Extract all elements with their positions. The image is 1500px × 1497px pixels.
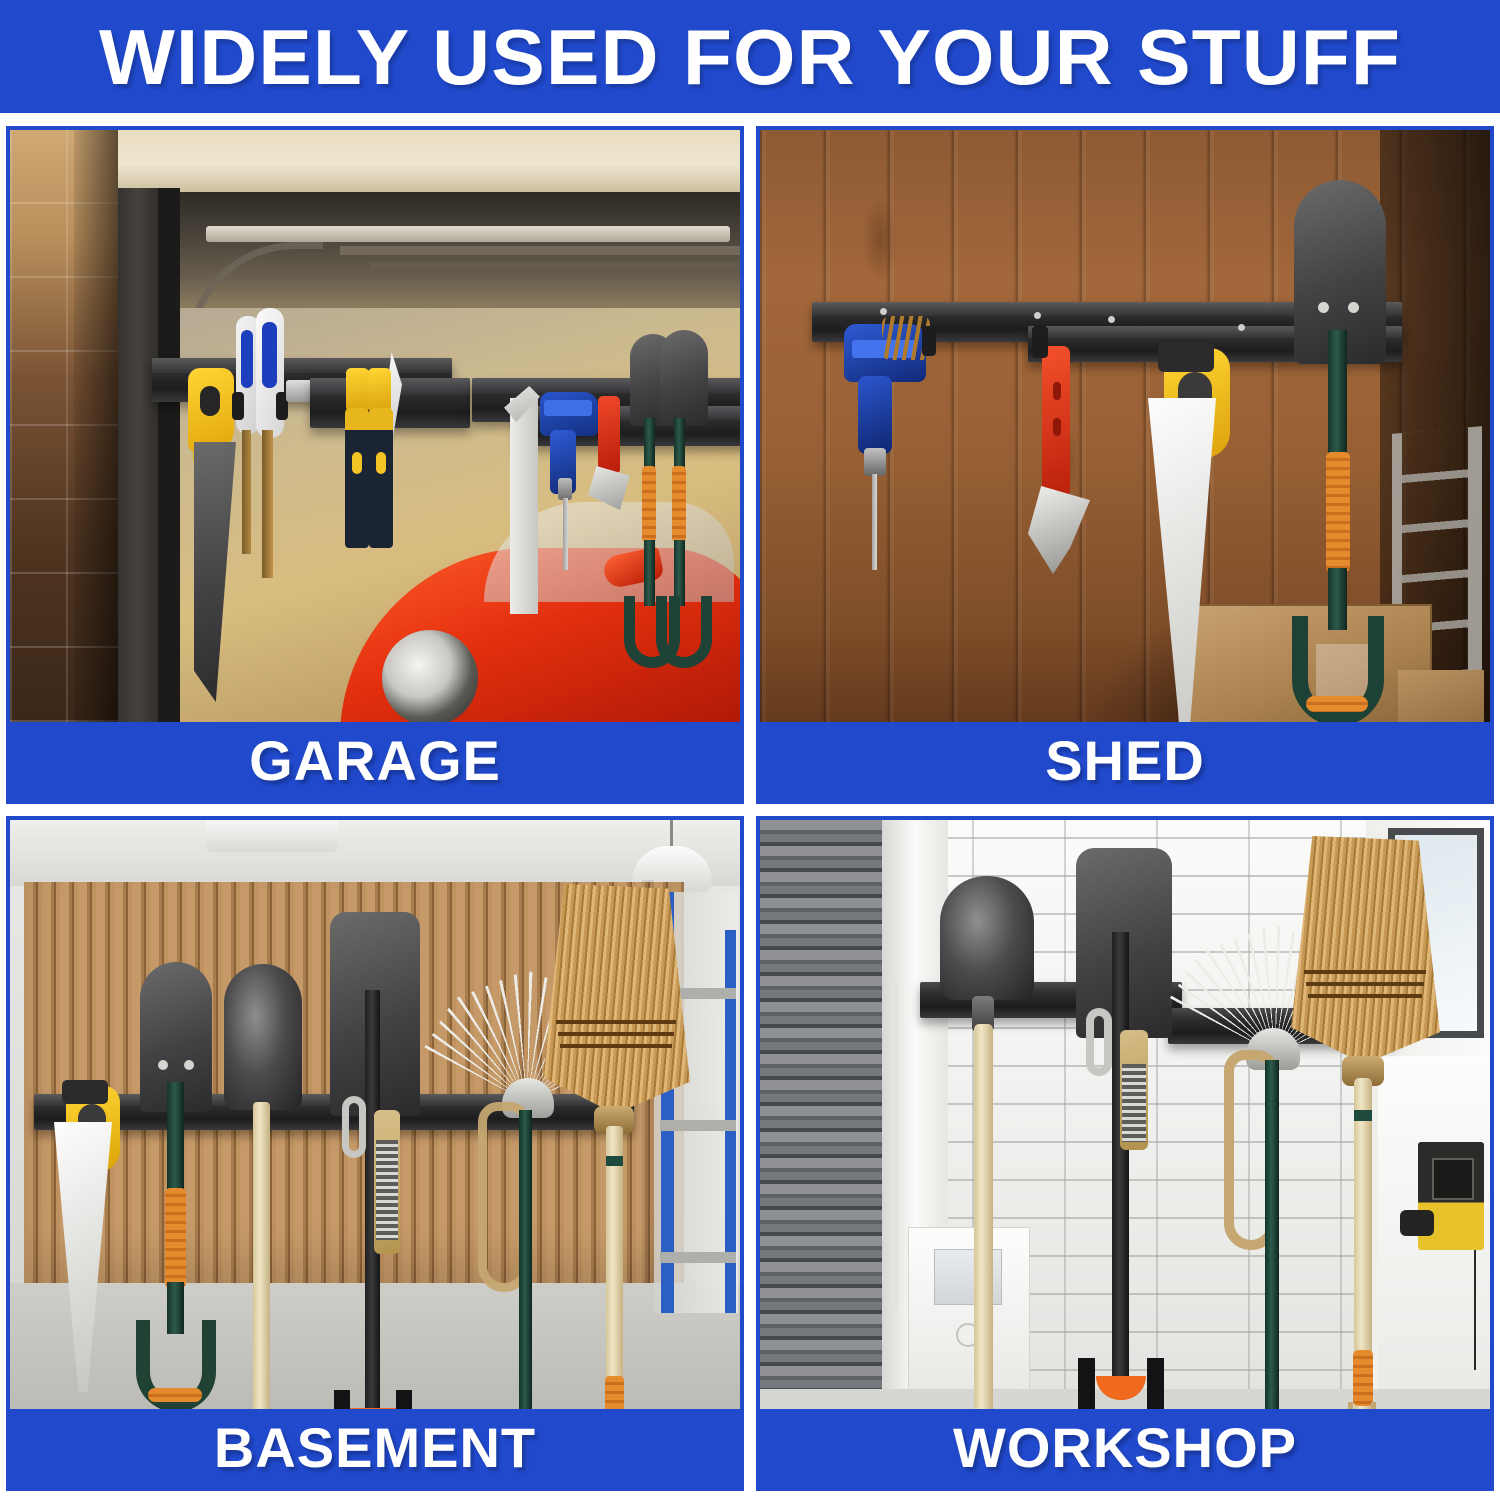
bm-round-shovel-handle [253, 1102, 270, 1409]
pliers-grip-marker-a [352, 452, 362, 474]
bm-wire-brush-bristles [376, 1140, 398, 1240]
shed-saw-spine [1158, 342, 1214, 372]
basement-scene [10, 820, 740, 1409]
bm-broom-stitch-a [556, 1020, 676, 1024]
shovel-grip-right [672, 466, 686, 542]
pliers-head-a [346, 368, 369, 412]
shelving-shelf-2 [660, 1120, 736, 1131]
ws-broom-stitch-a [1304, 970, 1426, 974]
bm-folding-shovel-shaft [167, 1082, 184, 1192]
pliers-grip-a [345, 408, 369, 548]
adjustable-wrench-handle [598, 396, 620, 474]
infographic-page: WIDELY USED FOR YOUR STUFF [0, 0, 1500, 1497]
bm-folding-shovel-d-grip [148, 1388, 202, 1402]
workshop-wall-unit-clamp [1400, 1210, 1434, 1236]
caption-workshop: WORKSHOP [760, 1409, 1490, 1487]
bm-square-shovel-d-handle [334, 1390, 412, 1409]
bm-saw-spine [62, 1080, 108, 1104]
pliers-grip-marker-b [376, 452, 386, 474]
ws-carabiner [1086, 1008, 1112, 1076]
pliers-grip-b [369, 408, 393, 548]
hand-saw-handle-hole [200, 386, 220, 416]
shovel-d-handle-right [656, 596, 712, 668]
ws-wire-brush-bristles [1122, 1064, 1146, 1142]
bm-broom-stitch-b [558, 1032, 674, 1036]
caption-basement: BASEMENT [10, 1409, 740, 1487]
garage-scene [10, 130, 740, 722]
shed-shovel-grip [1326, 452, 1350, 572]
ws-broom-stitch-b [1306, 982, 1424, 986]
ws-round-shovel-blade [940, 876, 1034, 1000]
panel-garage[interactable]: GARAGE [0, 120, 750, 810]
shed-drill-hook [922, 326, 936, 356]
basement-ceiling [10, 820, 740, 886]
bm-broom-handle-wrap [605, 1376, 624, 1409]
screwdriver-shaft-b [262, 430, 273, 578]
pliers-head-b [368, 368, 391, 412]
metal-ruler [510, 398, 538, 614]
garage-door-track [340, 246, 740, 255]
caption-shed-label: SHED [1045, 733, 1205, 789]
bm-folding-shovel-grip [165, 1188, 186, 1288]
caption-shed: SHED [760, 722, 1490, 800]
bm-round-shovel-blade [224, 964, 302, 1110]
ws-rake-shaft [1265, 1060, 1279, 1409]
shed-wrench-slot-a [1053, 382, 1061, 400]
shed-scene [760, 130, 1490, 722]
bm-folding-shovel-rivet-a [158, 1060, 168, 1070]
rail-screw-a [880, 308, 887, 315]
shed-cardboard-box-small [1398, 670, 1484, 722]
ws-broom-handle-wrap [1353, 1350, 1373, 1406]
power-drill-chuck [558, 478, 572, 500]
shed-shovel-rivet-a [1318, 302, 1329, 313]
shovel-shaft-left [644, 418, 655, 468]
garage-soffit [10, 130, 740, 192]
bm-rake-shaft [519, 1110, 532, 1409]
rail-hook-a [232, 392, 244, 420]
panel-grid: GARAGE [0, 120, 1500, 1497]
workshop-scene [760, 820, 1490, 1409]
red-car-wheel [382, 630, 478, 722]
panel-shed[interactable]: SHED [750, 120, 1500, 810]
page-title: WIDELY USED FOR YOUR STUFF [99, 18, 1401, 96]
panel-basement-frame: BASEMENT [6, 816, 744, 1491]
panel-basement[interactable]: BASEMENT [0, 810, 750, 1497]
garage-stone-facade [10, 130, 118, 722]
caption-garage-label: GARAGE [249, 733, 501, 789]
garage-door-track-secondary [370, 262, 740, 268]
panel-workshop-frame: WORKSHOP [756, 816, 1494, 1491]
garage-door-jamb-inner [158, 188, 180, 722]
ws-broom-stitch-c [1308, 994, 1422, 998]
workshop-wall-unit-display [1432, 1158, 1474, 1200]
bm-folding-shovel-rivet-b [184, 1060, 194, 1070]
power-drill-bit [563, 498, 568, 570]
ws-broom-handle-band [1354, 1110, 1372, 1121]
panel-shed-frame: SHED [756, 126, 1494, 804]
shed-shovel-d-grip [1306, 696, 1368, 712]
workshop-roller-shutter [760, 820, 888, 1409]
panel-workshop[interactable]: WORKSHOP [750, 810, 1500, 1497]
shed-wrench-slot-b [1053, 418, 1061, 436]
screwdriver-grip-a [241, 330, 253, 388]
shovel-blade-right [660, 330, 708, 426]
rail-screw-d [1238, 324, 1245, 331]
shed-drill-grip [858, 376, 892, 454]
basement-ceiling-vent [206, 820, 338, 852]
shed-shovel-shaft-upper [1328, 330, 1347, 456]
rail-screw-c [1108, 316, 1115, 323]
workshop-wall-pipe [890, 980, 898, 1310]
power-drill-label [544, 400, 592, 416]
bm-broom-stitch-c [560, 1044, 672, 1048]
shed-drill-bit [872, 474, 877, 570]
shovel-grip-left [642, 466, 656, 542]
ws-broom-bristles [1288, 836, 1440, 1064]
caption-garage: GARAGE [10, 722, 740, 800]
shovel-shaft-right [674, 418, 685, 468]
shelving-shelf-3 [660, 1252, 736, 1263]
bm-broom-handle-band [606, 1156, 623, 1166]
rail-screw-b [1034, 312, 1041, 319]
screwdriver-shaft-a [242, 430, 251, 554]
caption-workshop-label: WORKSHOP [953, 1420, 1297, 1476]
ws-round-shovel-handle [974, 1024, 993, 1409]
ws-square-shovel-shaft [1112, 932, 1129, 1388]
garage-ceiling-light [206, 226, 730, 242]
shed-shovel-rivet-b [1348, 302, 1359, 313]
ws-broom-handle-hook [1348, 1402, 1376, 1409]
shed-drill-chuck [864, 448, 886, 476]
header-banner: WIDELY USED FOR YOUR STUFF [0, 0, 1500, 113]
screwdriver-grip-b [262, 322, 277, 388]
bm-broom-handle [606, 1126, 623, 1409]
shed-wrench-hook [1032, 326, 1048, 358]
caption-basement-label: BASEMENT [214, 1420, 536, 1476]
workshop-wall-unit-cord [1474, 1250, 1476, 1370]
panel-garage-frame: GARAGE [6, 126, 744, 804]
bm-broom-bristles [540, 884, 690, 1114]
bm-carabiner [342, 1096, 366, 1158]
